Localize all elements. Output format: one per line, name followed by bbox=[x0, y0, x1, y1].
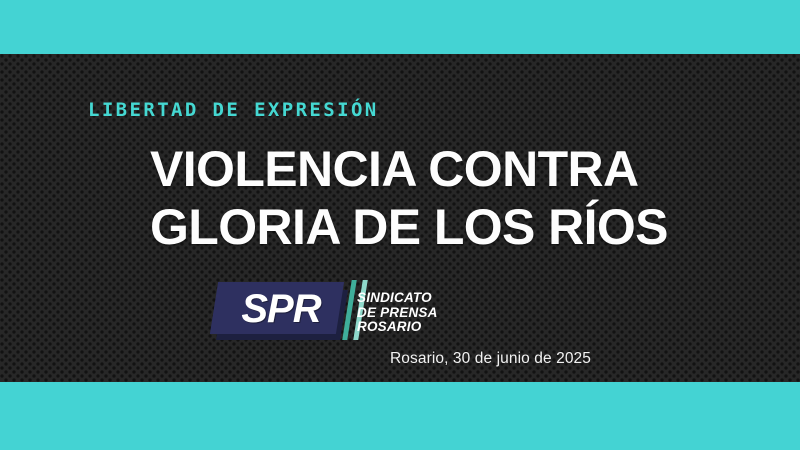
org-name-line-2: DE PRENSA bbox=[357, 306, 438, 321]
spr-logo: SPR SINDICATO DE PRENSA ROSARIO bbox=[214, 282, 474, 344]
org-name-line-3: ROSARIO bbox=[357, 320, 438, 335]
page-title: VIOLENCIA CONTRA GLORIA DE LOS RÍOS bbox=[150, 140, 770, 256]
org-name-line-1: SINDICATO bbox=[357, 291, 438, 306]
bottom-accent-band bbox=[0, 382, 800, 450]
top-accent-band bbox=[0, 0, 800, 54]
dateline: Rosario, 30 de junio de 2025 bbox=[390, 350, 591, 368]
social-card-banner: LIBERTAD DE EXPRESIÓN VIOLENCIA CONTRA G… bbox=[0, 0, 800, 450]
logo-wordmark: SPR bbox=[226, 288, 336, 330]
eyebrow-label: LIBERTAD DE EXPRESIÓN bbox=[88, 99, 379, 121]
logo-org-name: SINDICATO DE PRENSA ROSARIO bbox=[357, 291, 438, 335]
headline-line-1: VIOLENCIA CONTRA bbox=[150, 140, 770, 198]
headline-line-2: GLORIA DE LOS RÍOS bbox=[150, 198, 770, 256]
